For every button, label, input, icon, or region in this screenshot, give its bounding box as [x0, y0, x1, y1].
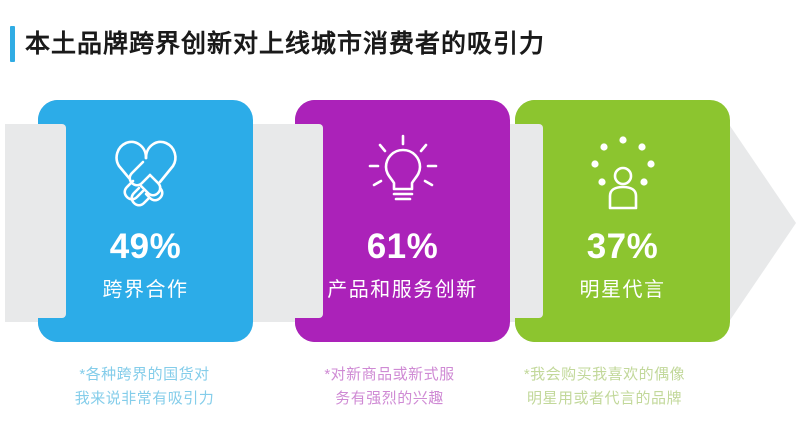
- caption-line: 明星用或者代言的品牌: [487, 387, 722, 411]
- card-caption: *各种跨界的国货对 我来说非常有吸引力: [27, 363, 262, 411]
- caption-line: *各种跨界的国货对: [27, 363, 262, 387]
- stat-label: 明星代言: [515, 276, 730, 304]
- stat-card-celebrity[interactable]: 37% 明星代言: [515, 100, 730, 342]
- card-body: 37% 明星代言: [515, 100, 730, 342]
- stat-card-crossover[interactable]: 49% 跨界合作: [38, 100, 253, 342]
- handshake-heart-icon: [38, 126, 253, 218]
- stat-percent: 49%: [38, 226, 253, 268]
- stat-card-innovation[interactable]: 61% 产品和服务创新: [295, 100, 510, 342]
- card-caption: *我会购买我喜欢的偶像 明星用或者代言的品牌: [487, 363, 722, 411]
- person-spotlight-icon: [515, 126, 730, 218]
- lightbulb-icon: [295, 126, 510, 218]
- caption-line: 我来说非常有吸引力: [27, 387, 262, 411]
- stat-label: 跨界合作: [38, 276, 253, 304]
- card-body: 49% 跨界合作: [38, 100, 253, 342]
- stat-percent: 61%: [295, 226, 510, 268]
- stat-percent: 37%: [515, 226, 730, 268]
- caption-line: *我会购买我喜欢的偶像: [487, 363, 722, 387]
- stat-label: 产品和服务创新: [295, 276, 510, 304]
- card-body: 61% 产品和服务创新: [295, 100, 510, 342]
- card-caption: *对新商品或新式服 务有强烈的兴趣: [272, 363, 507, 411]
- caption-line: 务有强烈的兴趣: [272, 387, 507, 411]
- title-accent-bar: [10, 26, 15, 62]
- title-bar: 本土品牌跨界创新对上线城市消费者的吸引力: [0, 0, 800, 86]
- page-title: 本土品牌跨界创新对上线城市消费者的吸引力: [25, 27, 545, 61]
- caption-line: *对新商品或新式服: [272, 363, 507, 387]
